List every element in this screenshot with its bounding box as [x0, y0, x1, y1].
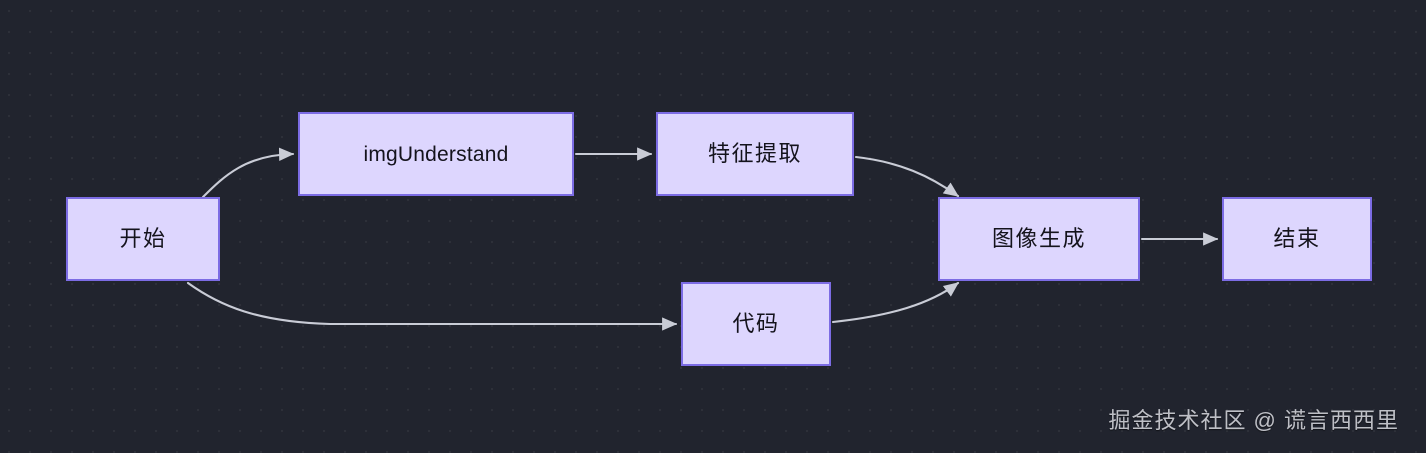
node-label: 开始 [119, 228, 166, 250]
node-image-generation[interactable]: 图像生成 [938, 197, 1140, 281]
node-label: imgUnderstand [363, 144, 508, 165]
edge-feature-to-imggen [856, 157, 958, 196]
node-start[interactable]: 开始 [66, 197, 220, 281]
edge-start-to-code [188, 283, 676, 324]
node-code[interactable]: 代码 [681, 282, 831, 366]
node-label: 图像生成 [992, 228, 1086, 250]
edge-start-to-imgunderstand [203, 154, 293, 197]
node-label: 结束 [1273, 228, 1320, 250]
edge-code-to-imggen [833, 283, 958, 322]
node-label: 特征提取 [708, 143, 802, 165]
node-imgunderstand[interactable]: imgUnderstand [298, 112, 574, 196]
diagram-canvas: 开始 imgUnderstand 特征提取 代码 图像生成 结束 掘金技术社区 … [0, 0, 1426, 453]
node-feature-extraction[interactable]: 特征提取 [656, 112, 854, 196]
node-end[interactable]: 结束 [1222, 197, 1372, 281]
watermark-text: 掘金技术社区 @ 谎言西西里 [1108, 403, 1399, 435]
node-label: 代码 [732, 313, 779, 335]
